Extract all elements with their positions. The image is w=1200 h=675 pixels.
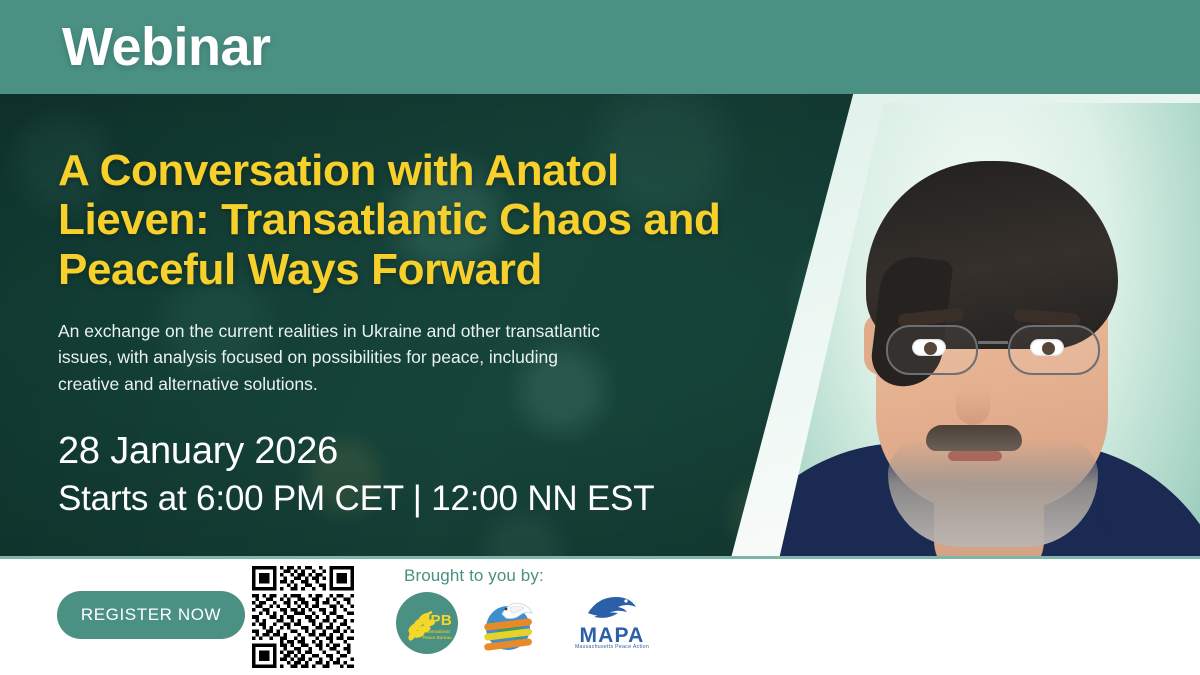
qr-code-icon (252, 566, 354, 668)
webinar-label: Webinar (62, 16, 271, 78)
portrait-glasses (882, 325, 1106, 379)
ipb-full-name: International Peace Bureau (420, 629, 454, 640)
dove-icon (560, 591, 664, 625)
portrait-mouth (948, 451, 1002, 461)
header-band: Webinar (0, 0, 1200, 94)
webinar-poster: Webinar A Conversation with Anatol Lieve… (0, 0, 1200, 675)
partner-logos: IPB International Peace Bureau (396, 592, 664, 654)
event-date: 28 January 2026 (58, 430, 760, 473)
event-time: Starts at 6:00 PM CET | 12:00 NN EST (58, 479, 760, 519)
logo-globe-dove[interactable] (476, 592, 542, 654)
registration-qr-code[interactable] (252, 566, 354, 668)
portrait-moustache (926, 425, 1022, 451)
register-now-button[interactable]: REGISTER NOW (57, 591, 245, 639)
content-column: A Conversation with Anatol Lieven: Trans… (0, 94, 760, 556)
mapa-full-name: Massachusetts Peace Action (560, 644, 664, 650)
logo-ipb[interactable]: IPB International Peace Bureau (396, 592, 458, 654)
footer-bar: REGISTER NOW Brought to you by: (0, 559, 1200, 675)
glasses-lens-left (886, 325, 978, 375)
brought-to-you-by-label: Brought to you by: (404, 566, 544, 586)
glasses-lens-right (1008, 325, 1100, 375)
globe-dove-icon (476, 592, 542, 654)
page-title: A Conversation with Anatol Lieven: Trans… (58, 146, 758, 294)
ipb-acronym: IPB (426, 612, 452, 629)
glasses-bridge (978, 341, 1008, 344)
logo-mapa[interactable]: MAPA Massachusetts Peace Action (560, 593, 664, 653)
event-description: An exchange on the current realities in … (58, 318, 610, 398)
